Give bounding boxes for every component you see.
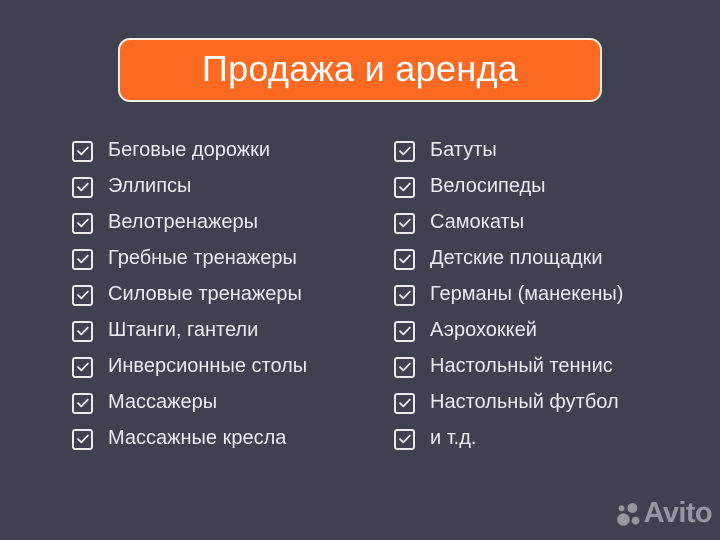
list-item[interactable]: Силовые тренажеры [72,277,307,313]
list-item[interactable]: Беговые дорожки [72,133,307,169]
list-item[interactable]: Настольный теннис [394,349,623,385]
list-item-label: Настольный теннис [430,356,613,378]
list-item-label: Самокаты [430,212,524,234]
checkbox-checked-icon[interactable] [72,285,93,306]
avito-logo-icon [616,502,642,528]
list-item-label: Германы (манекены) [430,284,623,306]
checkbox-checked-icon[interactable] [72,249,93,270]
checkbox-checked-icon[interactable] [394,213,415,234]
list-item-label: и т.д. [430,428,476,450]
list-item-label: Велотренажеры [108,212,258,234]
list-item-label: Силовые тренажеры [108,284,302,306]
checkbox-checked-icon[interactable] [394,249,415,270]
list-item-label: Велосипеды [430,176,546,198]
page-title: Продажа и аренда [202,51,518,90]
list-item[interactable]: Штанги, гантели [72,313,307,349]
list-item[interactable]: Массажеры [72,385,307,421]
list-item[interactable]: Батуты [394,133,623,169]
list-item[interactable]: Германы (манекены) [394,277,623,313]
list-item-label: Беговые дорожки [108,140,270,162]
slide-canvas: Продажа и аренда Беговые дорожкиЭллипсыВ… [0,0,720,540]
title-banner: Продажа и аренда [118,38,602,102]
checkbox-checked-icon[interactable] [394,285,415,306]
list-item[interactable]: Детские площадки [394,241,623,277]
list-item-label: Детские площадки [430,248,603,270]
list-item[interactable]: Аэрохоккей [394,313,623,349]
checkbox-checked-icon[interactable] [394,393,415,414]
checkbox-checked-icon[interactable] [394,357,415,378]
list-item-label: Массажные кресла [108,428,286,450]
avito-wordmark: Avito [644,499,712,531]
checkbox-checked-icon[interactable] [72,429,93,450]
checkbox-checked-icon[interactable] [394,177,415,198]
checkbox-checked-icon[interactable] [72,357,93,378]
list-item-label: Инверсионные столы [108,356,307,378]
list-item[interactable]: Инверсионные столы [72,349,307,385]
list-item[interactable]: Велотренажеры [72,205,307,241]
avito-watermark: Avito [616,498,712,532]
checkbox-checked-icon[interactable] [72,177,93,198]
list-item[interactable]: Массажные кресла [72,421,307,457]
list-item[interactable]: Самокаты [394,205,623,241]
list-item-label: Массажеры [108,392,217,414]
list-item[interactable]: Эллипсы [72,169,307,205]
list-item[interactable]: Велосипеды [394,169,623,205]
checklist-column-right: БатутыВелосипедыСамокатыДетские площадки… [394,133,623,457]
checkbox-checked-icon[interactable] [72,393,93,414]
checklist-column-left: Беговые дорожкиЭллипсыВелотренажерыГребн… [72,133,307,457]
checkbox-checked-icon[interactable] [72,213,93,234]
list-item[interactable]: Гребные тренажеры [72,241,307,277]
checkbox-checked-icon[interactable] [394,141,415,162]
list-item[interactable]: Настольный футбол [394,385,623,421]
list-item-label: Гребные тренажеры [108,248,297,270]
checkbox-checked-icon[interactable] [72,321,93,342]
list-item-label: Настольный футбол [430,392,619,414]
list-item-label: Батуты [430,140,497,162]
list-item-label: Аэрохоккей [430,320,537,342]
checkbox-checked-icon[interactable] [394,321,415,342]
list-item-label: Эллипсы [108,176,191,198]
checkbox-checked-icon[interactable] [394,429,415,450]
list-item-label: Штанги, гантели [108,320,258,342]
list-item[interactable]: и т.д. [394,421,623,457]
checkbox-checked-icon[interactable] [72,141,93,162]
